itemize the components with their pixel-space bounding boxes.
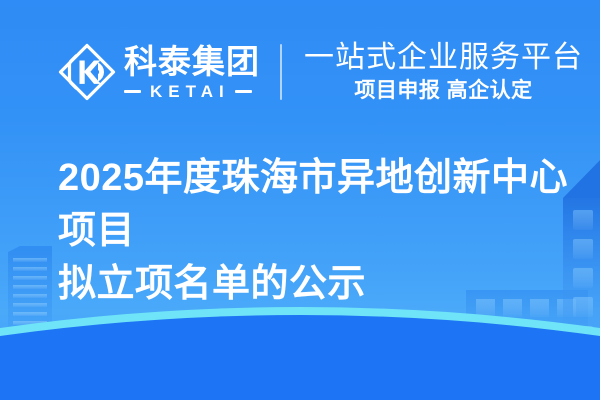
building-left-tall-tower [8,246,52,366]
brand-lockup: 科泰集团 KETAI [124,39,260,105]
dash-right-icon [235,90,252,93]
page-title: 2025年度珠海市异地创新中心项目 拟立项名单的公示 [58,152,578,311]
company-name-en-row: KETAI [124,83,260,101]
page-title-line-2: 拟立项名单的公示 [58,258,578,311]
company-name-en: KETAI [141,83,235,101]
page-title-line-1: 2025年度珠海市异地创新中心项目 [58,152,578,258]
header-divider [280,44,282,100]
brand-header: 科泰集团 KETAI 一站式企业服务平台 项目申报 高企认定 [56,36,583,108]
company-name-cn: 科泰集团 [124,44,260,80]
slogan-sub: 项目申报 高企认定 [304,78,583,104]
slogan-main: 一站式企业服务平台 [304,41,583,75]
kp-diamond-logo-icon [56,41,118,103]
building-left-small-block-b [78,322,112,366]
dash-left-icon [124,90,141,93]
building-left-small-block-a [56,330,76,366]
slogan-block: 一站式企业服务平台 项目申报 高企认定 [304,38,583,106]
publicity-banner: 科泰集团 KETAI 一站式企业服务平台 项目申报 高企认定 2025年度珠海市… [0,0,600,400]
